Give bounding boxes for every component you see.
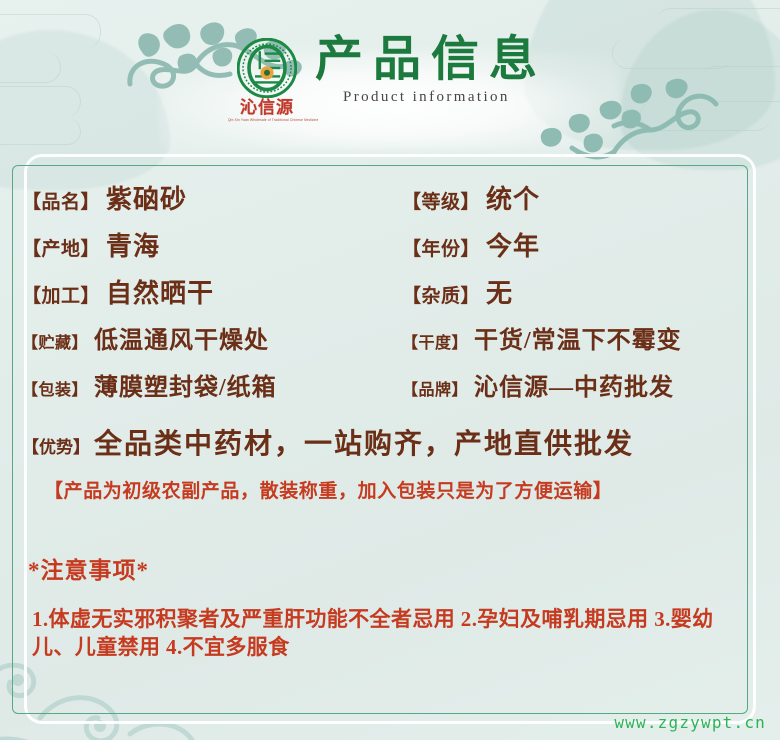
attribute-value: 无 (486, 279, 513, 308)
table-row: 【产地】青海 【年份】今年 (22, 226, 738, 273)
attribute-cell: 【杂质】无 (402, 273, 738, 320)
attribute-label: 【品牌】 (402, 382, 468, 399)
brand-logo: 沁信源 Qin Xin Yuan Wholesale of Traditiona… (228, 38, 306, 130)
attribute-cell: 【包装】薄膜塑封袋/纸箱 (22, 367, 402, 414)
attribute-label: 【产地】 (22, 239, 100, 260)
attribute-cell: 【品名】紫硇砂 (22, 179, 402, 226)
page-header: 沁信源 Qin Xin Yuan Wholesale of Traditiona… (0, 0, 780, 150)
attribute-cell: 【干度】干货/常温下不霉变 (402, 320, 738, 367)
table-row: 【加工】自然晒干 【杂质】无 (22, 273, 738, 320)
attribute-label: 【干度】 (402, 335, 468, 352)
attribute-cell: 【品牌】沁信源—中药批发 (402, 367, 738, 414)
product-information-page: 沁信源 Qin Xin Yuan Wholesale of Traditiona… (0, 0, 780, 740)
table-row: 【包装】薄膜塑封袋/纸箱 【品牌】沁信源—中药批发 (22, 367, 738, 414)
advantage-value: 全品类中药材，一站购齐，产地直供批发 (94, 429, 634, 460)
attribute-label: 【加工】 (22, 286, 100, 307)
attribute-cell: 【加工】自然晒干 (22, 273, 402, 320)
attribute-label: 【包装】 (22, 382, 88, 399)
attribute-label: 【年份】 (402, 239, 480, 260)
attribute-cell: 【产地】青海 (22, 226, 402, 273)
brand-name-cn: 沁信源 (228, 99, 306, 117)
brand-name-en: Qin Xin Yuan Wholesale of Traditional Ch… (228, 118, 306, 122)
product-info-content: 【品名】紫硇砂 【等级】统个 【产地】青海 【年份】今年 (12, 165, 748, 714)
site-watermark: www.zgzywpt.cn (614, 713, 766, 732)
notice-body: 1.体虚无实邪积聚者及严重肝功能不全者忌用 2.孕妇及哺乳期忌用 3.婴幼儿、儿… (32, 605, 732, 662)
attribute-label: 【品名】 (22, 192, 100, 213)
packaging-disclaimer: 【产品为初级农副产品，散装称重，加入包装只是为了方便运输】 (44, 476, 738, 503)
attribute-value: 低温通风干燥处 (94, 328, 269, 354)
attribute-value: 沁信源—中药批发 (474, 375, 674, 401)
attribute-cell: 【年份】今年 (402, 226, 738, 273)
attribute-cell: 【等级】统个 (402, 179, 738, 226)
advantage-row: 【优势】全品类中药材，一站购齐，产地直供批发 (22, 422, 738, 462)
notice-title: *注意事项* (28, 551, 738, 585)
page-title: 产品信息 Product information (315, 36, 645, 106)
attribute-label: 【等级】 (402, 192, 480, 213)
attribute-label: 【贮藏】 (22, 335, 88, 352)
attribute-cell: 【贮藏】低温通风干燥处 (22, 320, 402, 367)
attribute-value: 薄膜塑封袋/纸箱 (94, 375, 277, 401)
product-attributes-table: 【品名】紫硇砂 【等级】统个 【产地】青海 【年份】今年 (22, 179, 738, 414)
page-title-en: Product information (343, 89, 645, 106)
table-row: 【品名】紫硇砂 【等级】统个 (22, 179, 738, 226)
attribute-value: 今年 (486, 232, 540, 261)
attribute-value: 紫硇砂 (106, 185, 187, 214)
advantage-label: 【优势】 (22, 438, 90, 457)
table-row: 【贮藏】低温通风干燥处 【干度】干货/常温下不霉变 (22, 320, 738, 367)
attribute-label: 【杂质】 (402, 286, 480, 307)
attribute-value: 干货/常温下不霉变 (474, 328, 682, 354)
circular-seal-logo-icon (237, 38, 297, 98)
attribute-value: 青海 (106, 232, 160, 261)
attribute-value: 统个 (486, 185, 540, 214)
page-title-cn: 产品信息 (315, 36, 645, 85)
attribute-value: 自然晒干 (106, 279, 214, 308)
